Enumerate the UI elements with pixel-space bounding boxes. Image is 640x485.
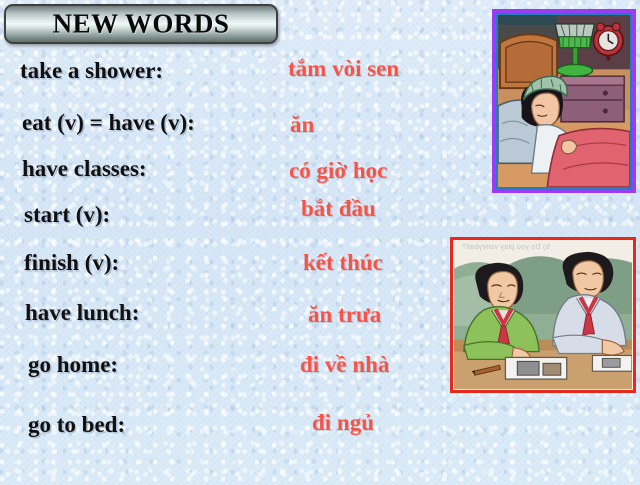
vocab-term-go-to-bed: go to bed: xyxy=(28,412,125,438)
faint-bleed-text: b) Do you play volleyball? xyxy=(462,244,550,251)
image-bedroom-frame xyxy=(492,9,636,193)
vocab-term-take-a-shower: take a shower: xyxy=(20,58,163,84)
title-banner: NEW WORDS xyxy=(4,4,278,44)
vocab-translation-go-to-bed: đi ngủ xyxy=(312,410,374,436)
image-classroom-frame: b) Do you play volleyball? xyxy=(450,237,636,393)
vocab-translation-go-home: đi về nhà xyxy=(300,352,389,378)
vocab-term-finish: finish (v): xyxy=(24,250,119,276)
vocab-translation-finish: kết thúc xyxy=(303,250,383,276)
bedroom-illustration xyxy=(498,15,630,187)
image-bedroom xyxy=(498,15,630,187)
slide-canvas: NEW WORDS take a shower: tắm vòi sen eat… xyxy=(0,0,640,485)
vocab-translation-eat-have: ăn xyxy=(290,112,314,138)
vocab-term-eat-have: eat (v) = have (v): xyxy=(22,110,195,136)
vocab-translation-start: bắt đầu xyxy=(301,196,376,222)
image-classroom: b) Do you play volleyball? xyxy=(454,241,632,389)
vocab-term-have-classes: have classes: xyxy=(22,156,147,182)
vocab-translation-have-lunch: ăn trưa xyxy=(308,302,381,328)
vocab-term-start: start (v): xyxy=(24,202,110,228)
vocab-translation-take-a-shower: tắm vòi sen xyxy=(288,56,399,82)
vocab-term-go-home: go home: xyxy=(28,352,118,378)
page-title: NEW WORDS xyxy=(6,9,276,40)
vocab-term-have-lunch: have lunch: xyxy=(25,300,139,326)
classroom-illustration xyxy=(454,241,632,389)
vocab-translation-have-classes: có giờ học xyxy=(289,158,387,184)
